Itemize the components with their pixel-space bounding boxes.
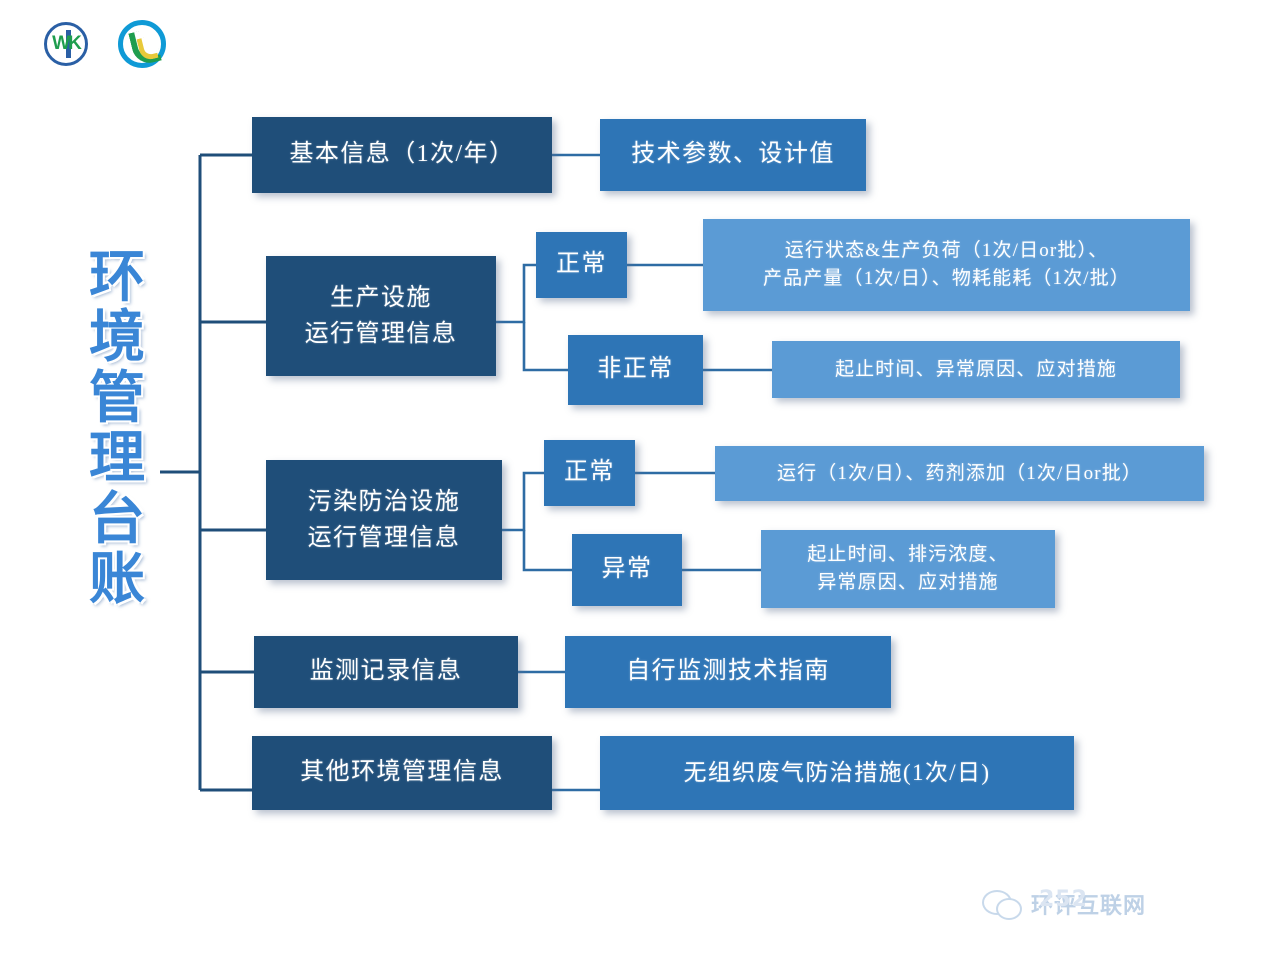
title-char-2: 境 (89, 308, 145, 368)
node-basic-info[interactable]: 基本信息（1次/年） (252, 117, 552, 193)
wuhan-env-logo: WK (44, 22, 88, 66)
node-abnormal-pollution[interactable]: 异常 (572, 534, 682, 606)
page-title: 环 境 管 理 台 账 (78, 248, 156, 611)
title-char-5: 台 (89, 490, 145, 550)
slide-canvas: WK 环 境 管 理 台 账 (0, 0, 1280, 960)
detail-abnormal-pollution[interactable]: 起止时间、排污浓度、 异常原因、应对措施 (761, 530, 1055, 608)
node-other-env-management[interactable]: 其他环境管理信息 (252, 736, 552, 810)
node-other-env-label: 其他环境管理信息 (252, 757, 552, 789)
node-abnormal-production-label: 非正常 (568, 354, 703, 386)
logo-glyph: WK (52, 33, 80, 55)
detail-normal-production-line2: 产品产量（1次/日）、物耗能耗（1次/批） (703, 265, 1190, 294)
node-pollution-control-facility[interactable]: 污染防治设施 运行管理信息 (266, 460, 502, 580)
node-pollution-control-line2: 运行管理信息 (266, 520, 502, 556)
node-self-monitoring-guide[interactable]: 自行监测技术指南 (565, 636, 891, 708)
node-tech-params[interactable]: 技术参数、设计值 (600, 119, 866, 191)
detail-normal-production-line1: 运行状态&生产负荷（1次/日or批）、 (703, 237, 1190, 266)
node-production-facility-line1: 生产设施 (266, 280, 496, 316)
node-fugitive-emission-label: 无组织废气防治措施(1次/日) (600, 758, 1074, 788)
node-normal-pollution[interactable]: 正常 (544, 440, 635, 506)
node-monitoring-record[interactable]: 监测记录信息 (254, 636, 518, 708)
title-char-3: 管 (89, 369, 145, 429)
title-char-4: 理 (89, 429, 145, 489)
detail-normal-pollution[interactable]: 运行（1次/日）、药剂添加（1次/日or批） (715, 446, 1204, 501)
node-pollution-control-line1: 污染防治设施 (266, 484, 502, 520)
green-leaf-logo (118, 20, 166, 68)
detail-abnormal-production-line1: 起止时间、异常原因、应对措施 (772, 357, 1180, 382)
node-production-facility-line2: 运行管理信息 (266, 316, 496, 352)
node-abnormal-production[interactable]: 非正常 (568, 335, 703, 405)
detail-normal-pollution-line1: 运行（1次/日）、药剂添加（1次/日or批） (715, 461, 1204, 486)
detail-normal-production[interactable]: 运行状态&生产负荷（1次/日or批）、 产品产量（1次/日）、物耗能耗（1次/批… (703, 219, 1190, 311)
node-normal-production[interactable]: 正常 (536, 232, 627, 298)
watermark-ghost-number: 252 (1039, 887, 1088, 912)
node-production-facility[interactable]: 生产设施 运行管理信息 (266, 256, 496, 376)
watermark-text: 环评互联网 252 (1031, 888, 1146, 920)
node-tech-params-label: 技术参数、设计值 (600, 139, 866, 171)
detail-abnormal-production[interactable]: 起止时间、异常原因、应对措施 (772, 341, 1180, 398)
node-normal-pollution-label: 正常 (544, 457, 635, 489)
wechat-icon (982, 890, 1022, 918)
node-self-monitoring-guide-label: 自行监测技术指南 (565, 656, 891, 688)
watermark: 环评互联网 252 (982, 888, 1146, 920)
node-normal-production-label: 正常 (536, 249, 627, 281)
detail-abnormal-pollution-line2: 异常原因、应对措施 (761, 569, 1055, 598)
title-char-1: 环 (89, 248, 145, 308)
link-poll-abnormal (524, 530, 572, 570)
link-poll-normal (502, 473, 544, 530)
title-char-6: 账 (89, 550, 145, 610)
node-monitoring-record-label: 监测记录信息 (254, 656, 518, 688)
wechat-bubble-small (996, 898, 1022, 920)
node-basic-info-label: 基本信息（1次/年） (252, 139, 552, 171)
node-abnormal-pollution-label: 异常 (572, 554, 682, 586)
link-prod-normal (496, 265, 536, 322)
node-fugitive-emission[interactable]: 无组织废气防治措施(1次/日) (600, 736, 1074, 810)
detail-abnormal-pollution-line1: 起止时间、排污浓度、 (761, 541, 1055, 570)
link-prod-abnormal (524, 322, 568, 370)
